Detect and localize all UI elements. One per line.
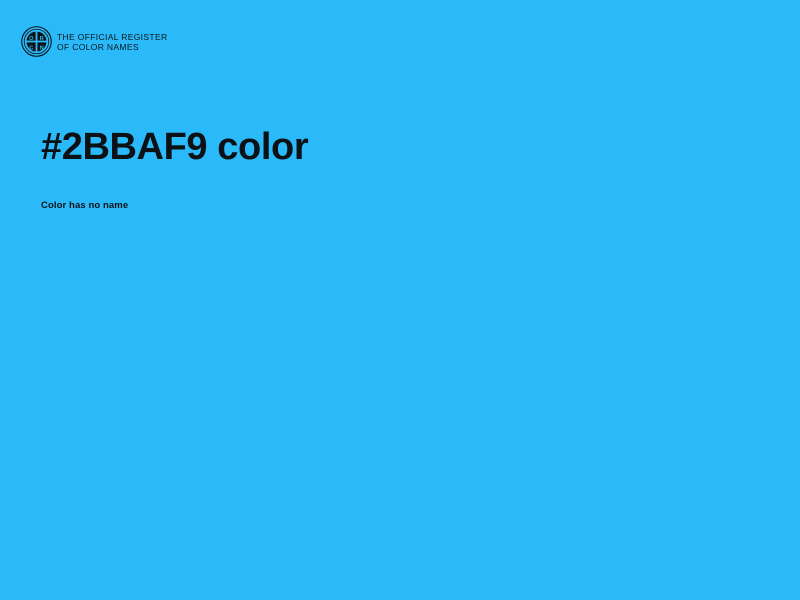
svg-text:N: N — [40, 46, 44, 52]
svg-text:O: O — [29, 36, 34, 42]
svg-text:C: C — [29, 46, 33, 52]
brand-header[interactable]: O R C N THE OFFICIAL REGISTER OF COLOR N… — [21, 26, 167, 57]
color-detail: #2BBAF9 color Color has no name — [41, 124, 741, 213]
brand-line-1: THE OFFICIAL REGISTER — [57, 32, 167, 42]
page-title: #2BBAF9 color — [41, 124, 741, 170]
svg-text:R: R — [40, 36, 44, 42]
brand-line-2: OF COLOR NAMES — [57, 42, 167, 52]
color-page: O R C N THE OFFICIAL REGISTER OF COLOR N… — [0, 0, 800, 600]
register-seal-icon: O R C N — [21, 26, 52, 57]
color-name-status: Color has no name — [41, 199, 741, 213]
brand-wordmark: THE OFFICIAL REGISTER OF COLOR NAMES — [57, 32, 167, 52]
